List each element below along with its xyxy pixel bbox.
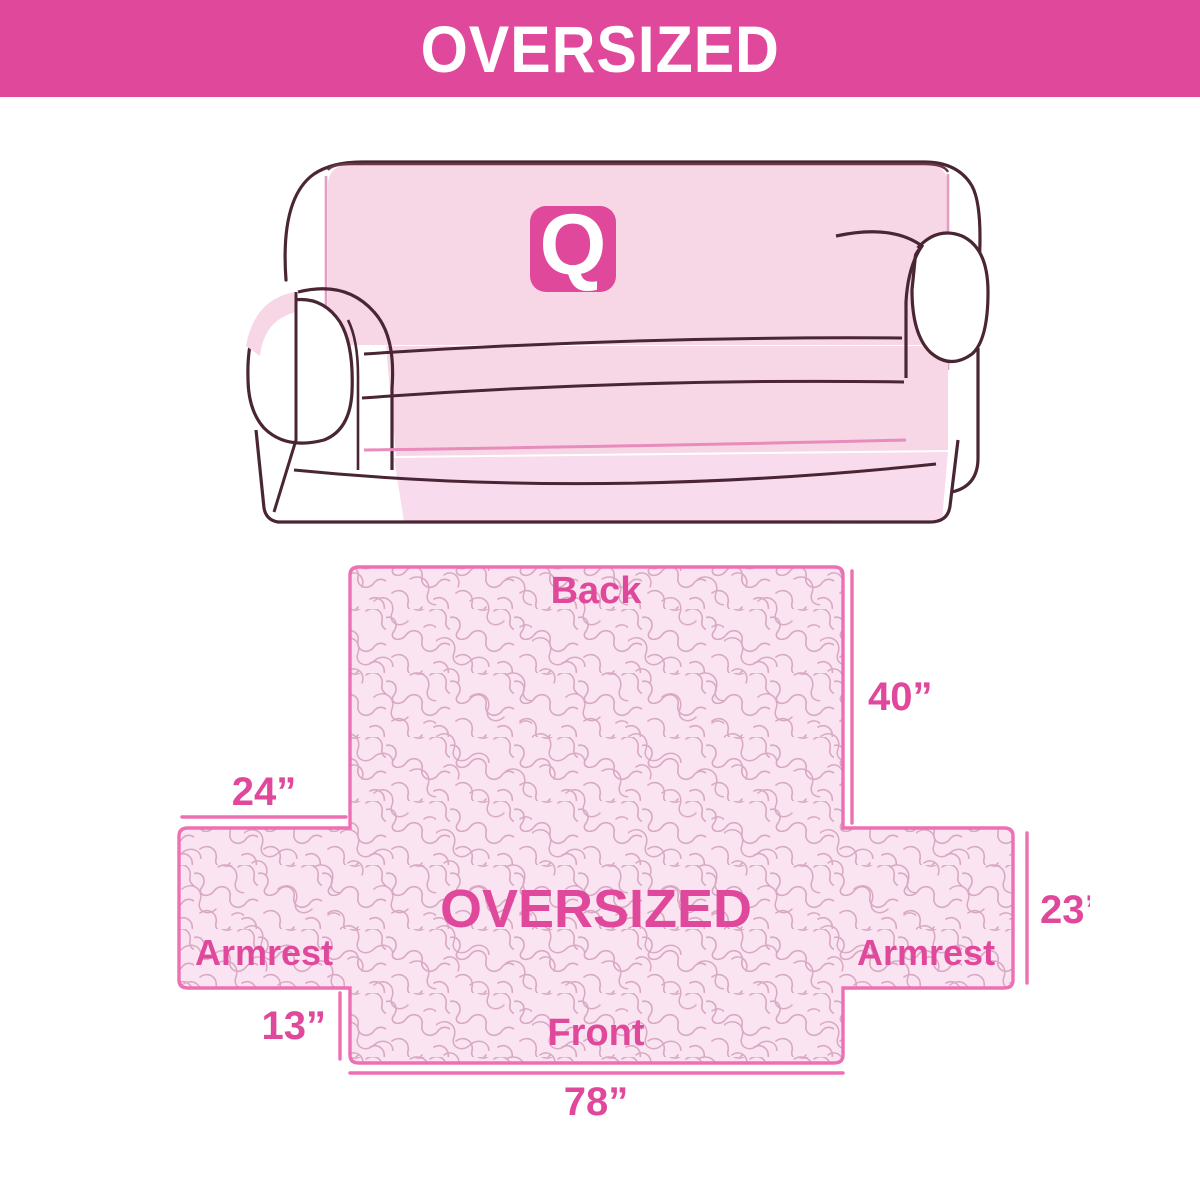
label-back: Back	[551, 570, 643, 612]
dim-label-armrest-width: 24”	[232, 770, 297, 814]
sofa-illustration: Q	[236, 140, 996, 530]
page-root: OVERSIZED	[0, 0, 1200, 1200]
banner-title: OVERSIZED	[420, 16, 779, 82]
cover-dimension-diagram: Back 40” 24” 23” OVERSIZED Armrest Armre…	[130, 545, 1090, 1125]
brand-logo: Q	[530, 197, 616, 293]
label-armrest-right: Armrest	[857, 932, 995, 973]
dim-label-armrest-height: 23”	[1040, 888, 1090, 932]
label-center-size: OVERSIZED	[440, 879, 752, 939]
dim-label-back-height: 40”	[868, 675, 933, 719]
sofa-right-arm	[912, 233, 988, 361]
brand-logo-letter: Q	[540, 197, 607, 293]
sofa-skirt-face	[394, 452, 948, 522]
header-banner: OVERSIZED	[0, 0, 1200, 97]
dim-label-skirt-height: 13”	[262, 1004, 327, 1048]
label-front: Front	[547, 1012, 644, 1054]
dim-label-total-width: 78”	[564, 1080, 629, 1124]
label-armrest-left: Armrest	[195, 932, 333, 973]
